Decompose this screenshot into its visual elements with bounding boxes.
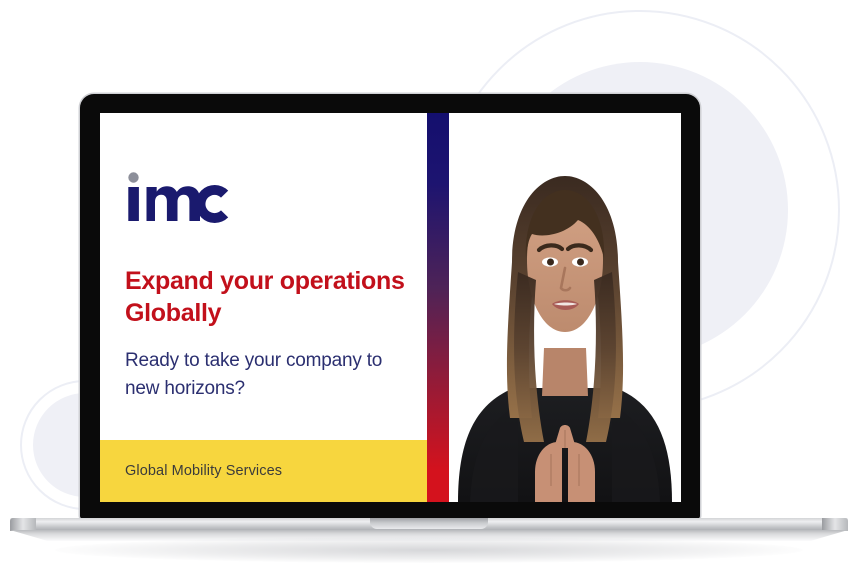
laptop-screen-bezel: Expand your operations Globally Ready to… (80, 94, 700, 519)
slide-headline: Expand your operations Globally (125, 265, 415, 329)
laptop-mockup: Expand your operations Globally Ready to… (0, 0, 858, 588)
imc-logo-mark (125, 171, 229, 223)
imc-logo (125, 171, 229, 223)
slide-subheadline: Ready to take your company to new horizo… (125, 347, 415, 402)
slide-text-panel: Expand your operations Globally Ready to… (100, 113, 427, 502)
slide-footer-label: Global Mobility Services (125, 463, 282, 479)
laptop-base-cap-right (822, 518, 848, 531)
presenter-figure (449, 142, 681, 502)
slide-footer-bar: Global Mobility Services (100, 440, 427, 502)
laptop-base-notch (370, 518, 488, 529)
slide-content: Expand your operations Globally Ready to… (100, 113, 427, 440)
laptop-base-cap-left (10, 518, 36, 531)
laptop-display: Expand your operations Globally Ready to… (100, 113, 681, 502)
laptop-drop-shadow (55, 537, 803, 563)
slide-gradient-divider (427, 113, 449, 502)
video-panel (449, 113, 681, 502)
